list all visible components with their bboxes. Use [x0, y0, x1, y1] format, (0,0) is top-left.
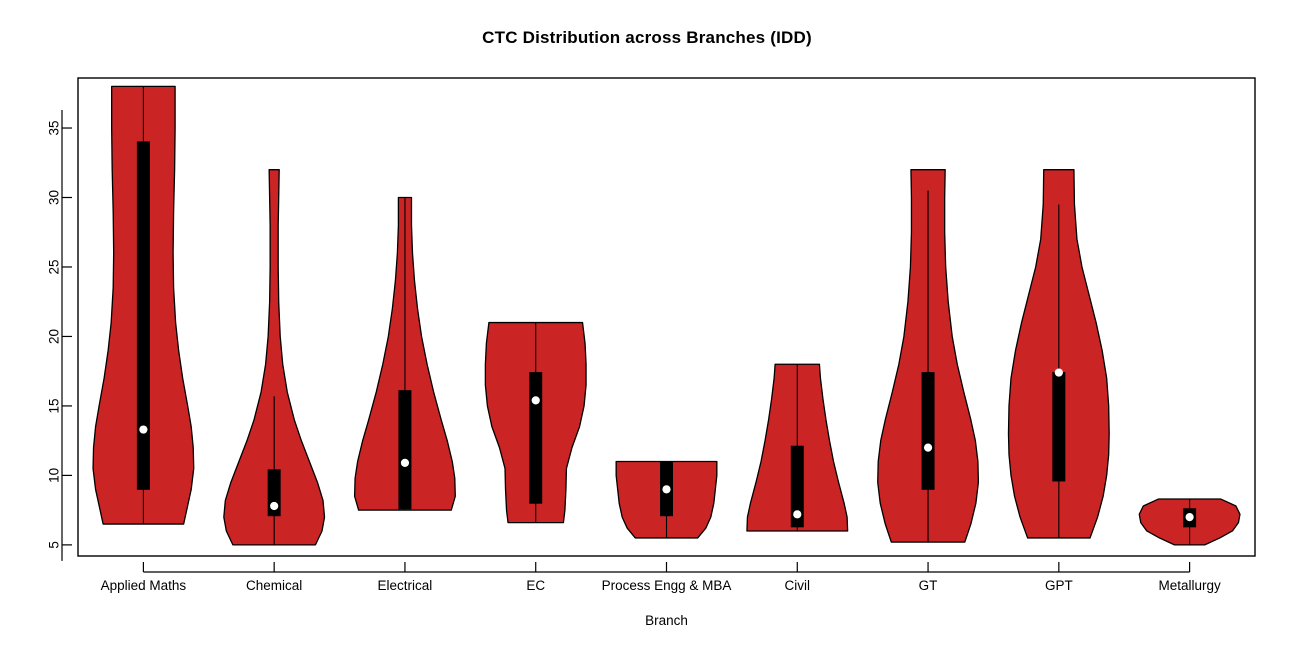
violin-process-engg-mba: [616, 462, 717, 538]
y-tick-label: 15: [47, 398, 62, 413]
median-marker: [401, 459, 409, 467]
violin-ec: [485, 323, 586, 523]
median-marker: [532, 396, 540, 404]
median-marker: [924, 444, 932, 452]
x-tick-label-applied-maths: Applied Maths: [101, 578, 187, 593]
median-marker: [139, 425, 147, 433]
median-marker: [1055, 368, 1063, 376]
x-tick-label-chemical: Chemical: [246, 578, 302, 593]
violin-shapes: [93, 86, 1240, 545]
y-tick-label: 35: [47, 121, 62, 136]
median-marker: [662, 485, 670, 493]
chart-root: CTC Distribution across Branches (IDD) C…: [0, 0, 1294, 653]
median-marker: [270, 502, 278, 510]
median-marker: [1186, 513, 1194, 521]
y-tick-label: 25: [47, 259, 62, 274]
iqr-box: [922, 373, 934, 490]
x-tick-label-metallurgy: Metallurgy: [1158, 578, 1221, 593]
violin-civil: [747, 364, 848, 531]
y-tick-label: 5: [47, 541, 62, 549]
y-tick-label: 30: [47, 190, 62, 205]
x-tick-label-electrical: Electrical: [378, 578, 433, 593]
median-marker: [793, 510, 801, 518]
violin-electrical: [355, 198, 456, 511]
y-tick-label: 20: [47, 329, 62, 344]
violin-plot-canvas: 5101520253035 Applied MathsChemicalElect…: [0, 0, 1294, 653]
x-axis: Applied MathsChemicalElectricalECProcess…: [101, 562, 1221, 593]
x-tick-label-gpt: GPT: [1045, 578, 1073, 593]
violin-applied-maths: [93, 86, 194, 524]
x-tick-label-ec: EC: [526, 578, 545, 593]
iqr-box: [1053, 373, 1065, 481]
x-tick-label-civil: Civil: [785, 578, 811, 593]
iqr-box: [399, 391, 411, 509]
violin-metallurgy: [1139, 499, 1240, 545]
x-tick-label-process-engg-mba: Process Engg & MBA: [602, 578, 732, 593]
violin-chemical: [224, 170, 325, 545]
y-tick-label: 10: [47, 468, 62, 483]
y-axis: 5101520253035: [47, 110, 73, 561]
violin-gt: [878, 170, 979, 542]
x-tick-label-gt: GT: [919, 578, 938, 593]
iqr-box: [137, 142, 149, 489]
iqr-box: [530, 373, 542, 504]
violin-gpt: [1008, 170, 1109, 538]
